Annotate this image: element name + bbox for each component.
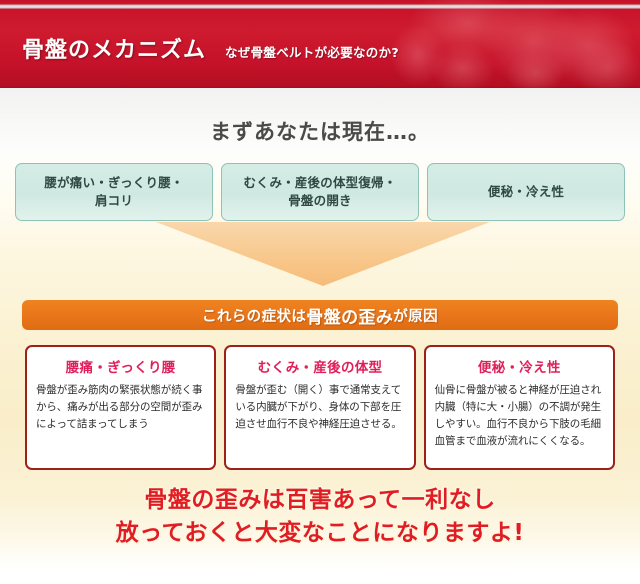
- page-subtitle: なぜ骨盤ベルトが必要なのか?: [225, 42, 399, 61]
- cause-banner-text-emphasis: 骨盤の歪み: [306, 303, 393, 328]
- symptom-box-label: 腰が痛い・ぎっくり腰・ 肩コリ: [44, 174, 183, 210]
- detail-card-heading: 腰痛・ぎっくり腰: [36, 356, 205, 376]
- detail-card-row: 腰痛・ぎっくり腰 骨盤が歪み筋肉の緊張状態が続く事から、痛みが出る部分の空間が歪…: [25, 345, 615, 470]
- conclusion-line-2: 放っておくと大変なことになりますよ!: [0, 517, 640, 550]
- detail-card-body: 骨盤が歪む（開く）事で通常支えている内臓が下がり、身体の下部を圧迫させ血行不良や…: [235, 382, 404, 433]
- symptom-box: むくみ・産後の体型復帰・ 骨盤の開き: [221, 163, 419, 221]
- symptom-box-label: むくみ・産後の体型復帰・ 骨盤の開き: [244, 174, 397, 210]
- detail-card-heading: 便秘・冷え性: [435, 356, 604, 376]
- infographic-page: 骨盤のメカニズム なぜ骨盤ベルトが必要なのか? まずあなたは現在…。 腰が痛い・…: [0, 0, 640, 584]
- conclusion-message: 骨盤の歪みは百害あって一利なし 放っておくと大変なことになりますよ!: [0, 484, 640, 549]
- detail-card-body: 骨盤が歪み筋肉の緊張状態が続く事から、痛みが出る部分の空間が歪みによって詰まって…: [36, 382, 205, 433]
- down-triangle-arrow-icon: [156, 222, 490, 286]
- cause-banner-text-before: これらの症状は: [202, 305, 306, 326]
- symptom-box: 便秘・冷え性: [427, 163, 625, 221]
- cause-banner-text-after: が原因: [393, 305, 438, 326]
- symptom-box-row: 腰が痛い・ぎっくり腰・ 肩コリ むくみ・産後の体型復帰・ 骨盤の開き 便秘・冷え…: [15, 163, 625, 221]
- symptom-box: 腰が痛い・ぎっくり腰・ 肩コリ: [15, 163, 213, 221]
- detail-card: 便秘・冷え性 仙骨に骨盤が被ると神経が圧迫され内臓（特に大・小腸）の不調が発生し…: [424, 345, 615, 470]
- detail-card: 腰痛・ぎっくり腰 骨盤が歪み筋肉の緊張状態が続く事から、痛みが出る部分の空間が歪…: [25, 345, 216, 470]
- cause-banner: これらの症状は 骨盤の歪み が原因: [22, 300, 618, 330]
- conclusion-line-1: 骨盤の歪みは百害あって一利なし: [0, 484, 640, 517]
- symptom-box-label: 便秘・冷え性: [488, 183, 564, 201]
- detail-card-heading: むくみ・産後の体型: [235, 356, 404, 376]
- detail-card-body: 仙骨に骨盤が被ると神経が圧迫され内臓（特に大・小腸）の不調が発生しやすい。血行不…: [435, 382, 604, 450]
- lead-heading: まずあなたは現在…。: [0, 116, 640, 146]
- detail-card: むくみ・産後の体型 骨盤が歪む（開く）事で通常支えている内臓が下がり、身体の下部…: [224, 345, 415, 470]
- pelvis-xray-image: [390, 2, 640, 88]
- page-title: 骨盤のメカニズム: [22, 32, 206, 64]
- page-header-banner: 骨盤のメカニズム なぜ骨盤ベルトが必要なのか?: [0, 0, 640, 88]
